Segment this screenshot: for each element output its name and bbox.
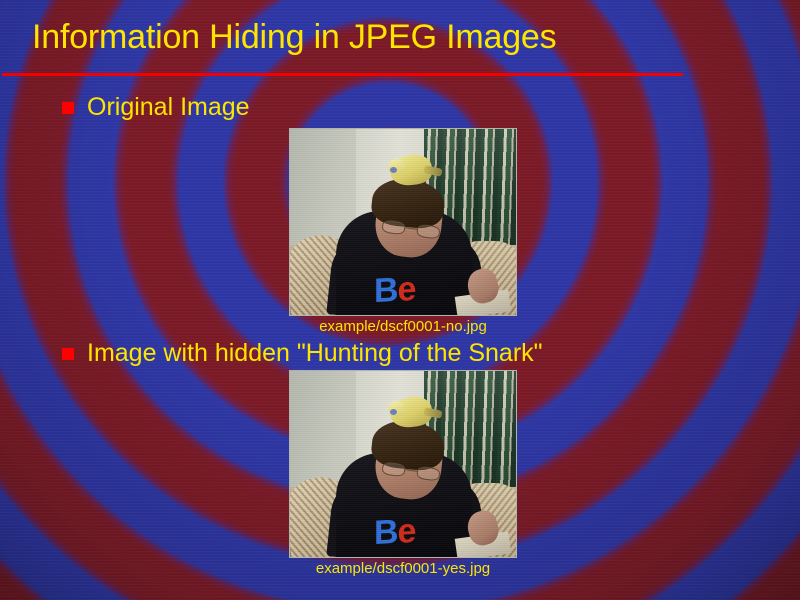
photo-block-original: Be bbox=[289, 128, 517, 316]
be-tshirt-logo: Be bbox=[374, 272, 415, 308]
logo-letter-b: B bbox=[374, 271, 398, 310]
parakeet-cheek-patch bbox=[390, 167, 397, 173]
presentation-slide: Information Hiding in JPEG Images Origin… bbox=[0, 0, 800, 600]
photo-caption-stego: example/dscf0001-yes.jpg bbox=[289, 559, 517, 579]
be-tshirt-logo: Be bbox=[374, 514, 415, 550]
glasses-left-lens bbox=[381, 462, 405, 478]
glasses-left-lens bbox=[381, 220, 405, 236]
glasses-right-lens bbox=[416, 466, 440, 482]
title-divider bbox=[2, 73, 683, 76]
bullet-label: Image with hidden "Hunting of the Snark" bbox=[87, 338, 543, 368]
photo-stego-image: Be bbox=[289, 370, 517, 558]
photo-caption-original: example/dscf0001-no.jpg bbox=[289, 317, 517, 337]
logo-letter-e: e bbox=[398, 512, 416, 551]
square-bullet-icon bbox=[62, 348, 74, 360]
page-title: Information Hiding in JPEG Images bbox=[32, 17, 732, 57]
glasses-bridge bbox=[405, 227, 417, 230]
bullet-item-hidden-image: Image with hidden "Hunting of the Snark" bbox=[62, 338, 543, 368]
square-bullet-icon bbox=[62, 102, 74, 114]
glasses-right-lens bbox=[416, 224, 440, 240]
photo-original-image: Be bbox=[289, 128, 517, 316]
bullet-item-original-image: Original Image bbox=[62, 92, 250, 122]
bullet-label: Original Image bbox=[87, 92, 250, 122]
logo-letter-b: B bbox=[374, 513, 398, 552]
photo-block-stego: Be bbox=[289, 370, 517, 558]
glasses-bridge bbox=[405, 469, 417, 472]
parakeet-cheek-patch bbox=[390, 409, 397, 415]
logo-letter-e: e bbox=[398, 270, 416, 309]
